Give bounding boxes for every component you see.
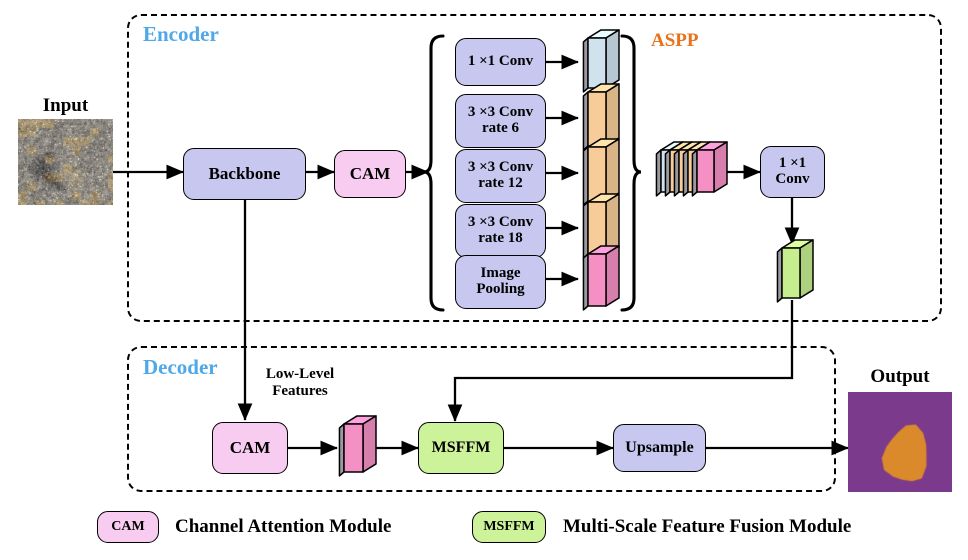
- upsample-box[interactable]: Upsample: [613, 424, 706, 472]
- output-image: [848, 392, 952, 492]
- aspp-branch-5-line2: Pooling: [476, 282, 524, 298]
- output-label: Output: [848, 366, 952, 388]
- aspp-branch-2-line1: 3 ×3 Conv: [468, 105, 533, 121]
- legend-badge-cam-label: CAM: [111, 520, 144, 535]
- decoder-region-label: Decoder: [143, 355, 218, 380]
- aspp-branch-box-3[interactable]: 3 ×3 Convrate 12: [455, 149, 546, 203]
- conv1x1-line1: 1 ×1: [779, 156, 806, 172]
- decoder-cam-box[interactable]: CAM: [212, 422, 288, 474]
- low-level-features-line1: Low-Level: [266, 366, 334, 382]
- aspp-branch-3-line1: 3 ×3 Conv: [468, 160, 533, 176]
- msffm-box[interactable]: MSFFM: [418, 422, 504, 474]
- input-label: Input: [18, 95, 113, 117]
- conv1x1-box[interactable]: 1 ×1 Conv: [760, 146, 825, 198]
- legend-badge-msffm-label: MSFFM: [483, 520, 534, 535]
- backbone-label: Backbone: [209, 165, 281, 183]
- aspp-branch-box-1[interactable]: 1 ×1 Conv: [455, 38, 546, 86]
- legend-badge-cam: CAM: [97, 511, 159, 543]
- encoder-cam-box[interactable]: CAM: [334, 150, 406, 198]
- aspp-branch-box-4[interactable]: 3 ×3 Convrate 18: [455, 204, 546, 258]
- aspp-branch-box-5[interactable]: ImagePooling: [455, 255, 546, 309]
- upsample-label: Upsample: [625, 440, 693, 457]
- aspp-caption: ASPP: [651, 30, 699, 52]
- decoder-cam-label: CAM: [230, 439, 271, 457]
- aspp-branch-5-line1: Image: [481, 266, 521, 282]
- aspp-branch-2-line2: rate 6: [482, 121, 519, 137]
- encoder-cam-label: CAM: [350, 165, 391, 183]
- legend-text-cam: Channel Attention Module: [175, 516, 391, 538]
- legend-text-msffm: Multi-Scale Feature Fusion Module: [563, 516, 851, 538]
- backbone-box[interactable]: Backbone: [183, 148, 306, 200]
- aspp-branch-box-2[interactable]: 3 ×3 Convrate 6: [455, 94, 546, 148]
- low-level-features-label: Low-Level Features: [250, 366, 350, 400]
- input-image: [18, 119, 113, 205]
- aspp-branch-4-line1: 3 ×3 Conv: [468, 215, 533, 231]
- conv1x1-line2: Conv: [775, 172, 809, 188]
- low-level-features-line2: Features: [272, 383, 328, 399]
- encoder-region-label: Encoder: [143, 22, 219, 47]
- aspp-branch-3-line2: rate 12: [478, 176, 523, 192]
- aspp-branch-4-line2: rate 18: [478, 231, 523, 247]
- legend-badge-msffm: MSFFM: [472, 511, 546, 543]
- msffm-label: MSFFM: [432, 440, 491, 457]
- aspp-branch-1-line1: 1 ×1 Conv: [468, 54, 533, 70]
